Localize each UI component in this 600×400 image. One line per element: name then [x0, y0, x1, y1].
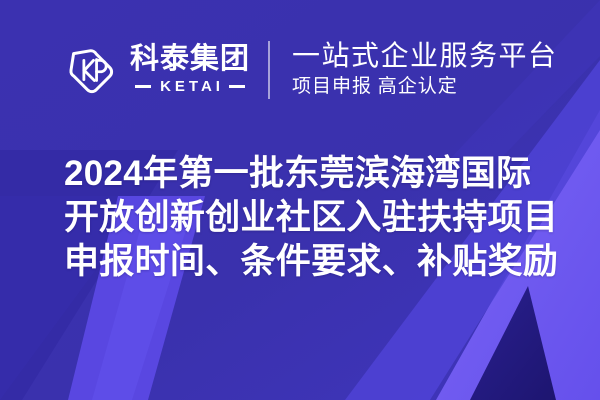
title-block: 2024年第一批东莞滨海湾国际开放创新创业社区入驻扶持项目申报时间、条件要求、补…: [64, 152, 564, 284]
banner-header: 科泰集团 KETAI 一站式企业服务平台 项目申报 高企认定: [0, 0, 600, 140]
page-title: 2024年第一批东莞滨海湾国际开放创新创业社区入驻扶持项目申报时间、条件要求、补…: [64, 152, 564, 284]
tagline-block: 一站式企业服务平台 项目申报 高企认定: [292, 40, 558, 99]
brand-dash-right: [229, 85, 245, 88]
brand-text: 科泰集团 KETAI: [130, 45, 250, 95]
brand-name-en-row: KETAI: [130, 78, 250, 95]
tagline-sub: 项目申报 高企认定: [292, 75, 558, 100]
header-divider: [268, 41, 270, 99]
promo-banner: 科泰集团 KETAI 一站式企业服务平台 项目申报 高企认定 2024年第一批东…: [0, 0, 600, 400]
brand-dash-left: [135, 85, 151, 88]
brand-name-en: KETAI: [151, 78, 229, 95]
ketai-kp-monogram-logo-icon: [62, 42, 118, 98]
tagline-main: 一站式企业服务平台: [292, 40, 558, 72]
brand-name-cn: 科泰集团: [130, 45, 250, 75]
brand-lockup: 科泰集团 KETAI: [62, 42, 250, 98]
